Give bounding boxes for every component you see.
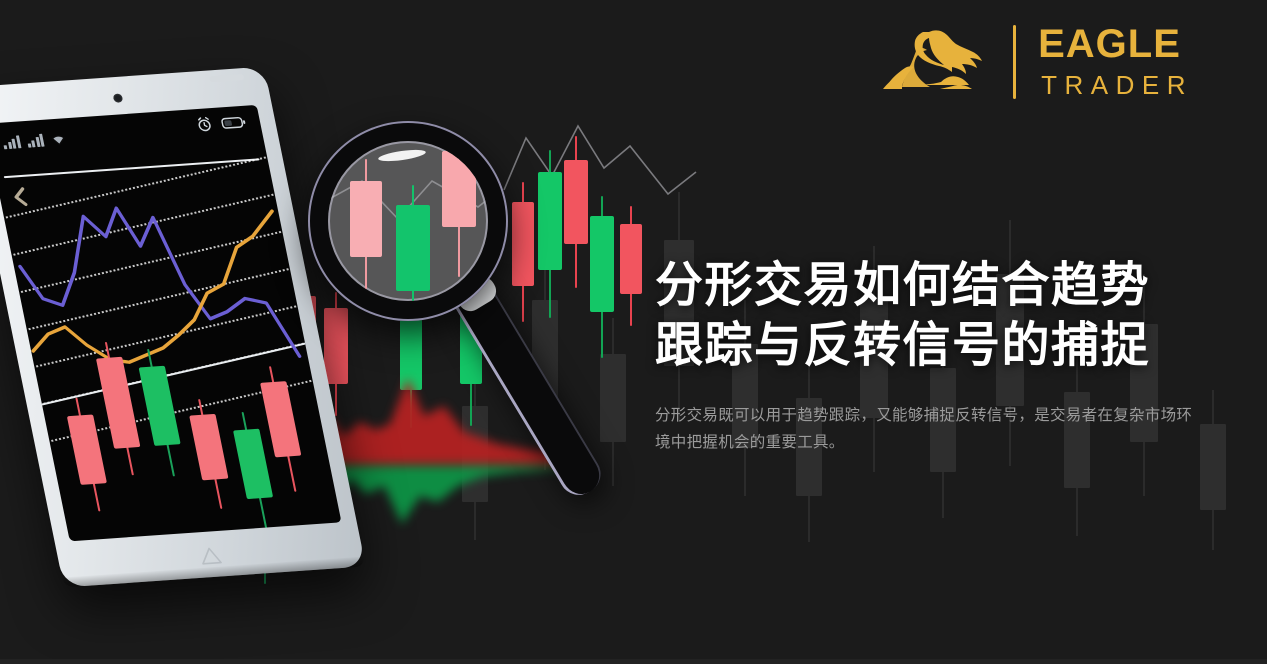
battery-icon: [220, 115, 247, 129]
magnifier-handle: [451, 279, 608, 502]
triangle-back-icon[interactable]: [198, 546, 224, 566]
page-title-line-2: 跟踪与反转信号的捕捉: [655, 316, 1215, 376]
tablet-candlestick-chart: [24, 297, 342, 541]
logo-wordmark: EAGLE TRADER: [1038, 24, 1193, 100]
magnifier-lens: [328, 141, 488, 301]
magnified-candle-up: [396, 185, 430, 301]
brand-logo[interactable]: EAGLE TRADER: [883, 24, 1193, 100]
logo-trader-text: TRADER: [1038, 70, 1193, 100]
bottom-band: [0, 659, 1267, 664]
magnified-candle-down: [350, 159, 382, 289]
alarm-clock-icon: [195, 116, 214, 133]
page-subtitle: 分形交易既可以用于趋势跟踪，又能够捕捉反转信号，是交易者在复杂市场环境中把握机会…: [655, 402, 1203, 456]
magnified-candle-down: [442, 141, 476, 277]
candle-down: [186, 398, 234, 510]
signal-bars-icon: [2, 135, 21, 149]
candle-down: [63, 397, 112, 513]
wifi-icon: [49, 132, 68, 146]
logo-divider: [1013, 25, 1016, 99]
eagle-lion-head-icon: [883, 26, 991, 98]
promo-banner: 分形交易如何结合趋势 跟踪与反转信号的捕捉 分形交易既可以用于趋势跟踪，又能够捕…: [0, 0, 1267, 664]
hero-content: 分形交易如何结合趋势 跟踪与反转信号的捕捉 分形交易既可以用于趋势跟踪，又能够捕…: [655, 256, 1215, 456]
page-title-line-1: 分形交易如何结合趋势: [655, 256, 1215, 316]
magnifier: [300, 115, 660, 535]
signal-bars-icon: [25, 134, 44, 148]
logo-eagle-text: EAGLE: [1038, 24, 1181, 64]
